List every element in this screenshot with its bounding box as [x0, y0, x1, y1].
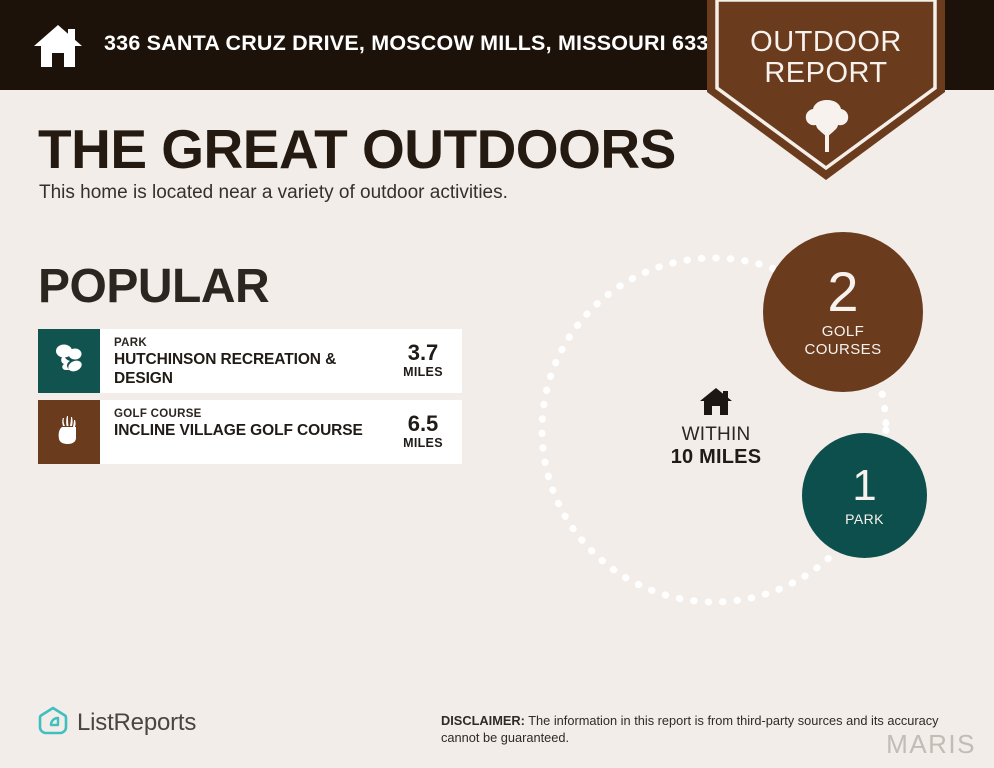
outdoor-report-page: 336 SANTA CRUZ DRIVE, MOSCOW MILLS, MISS… — [0, 0, 994, 768]
tree-icon — [804, 98, 850, 154]
stat-circle-park: 1 PARK — [802, 433, 927, 558]
poi-text-block: GOLF COURSE INCLINE VILLAGE GOLF COURSE — [100, 400, 384, 464]
poi-distance-block: 3.7 MILES — [384, 329, 462, 393]
park-trees-icon — [51, 341, 87, 382]
badge-title-line1: OUTDOOR — [705, 26, 947, 59]
stat-circle-golf-courses: 2 GOLF COURSES — [763, 232, 923, 392]
poi-name: INCLINE VILLAGE GOLF COURSE — [114, 421, 378, 440]
radius-center-label: WITHIN 10 MILES — [641, 386, 791, 469]
radius-within-text: WITHIN — [641, 423, 791, 446]
popular-section-heading: POPULAR — [38, 259, 269, 314]
poi-distance-block: 6.5 MILES — [384, 400, 462, 464]
poi-distance-unit: MILES — [384, 436, 462, 450]
poi-text-block: PARK HUTCHINSON RECREATION & DESIGN — [100, 329, 384, 393]
golf-bag-icon — [51, 412, 87, 453]
list-item[interactable]: PARK HUTCHINSON RECREATION & DESIGN 3.7 … — [38, 329, 462, 393]
golf-icon-container — [38, 400, 100, 464]
stat-label-line2: COURSES — [805, 341, 882, 359]
badge-title-line2: REPORT — [705, 57, 947, 90]
page-title: THE GREAT OUTDOORS — [38, 117, 676, 181]
house-icon — [699, 386, 733, 418]
outdoor-report-badge: OUTDOOR REPORT — [705, 0, 947, 182]
park-icon-container — [38, 329, 100, 393]
stat-count: 1 — [852, 464, 876, 508]
radius-miles-text: 10 MILES — [641, 446, 791, 469]
poi-distance-value: 3.7 — [384, 341, 462, 365]
stat-label-line1: PARK — [845, 511, 884, 527]
page-subtitle: This home is located near a variety of o… — [39, 182, 508, 204]
disclaimer-label: DISCLAIMER: — [441, 713, 525, 728]
stat-label-line1: GOLF — [822, 323, 864, 341]
poi-category: PARK — [114, 336, 378, 350]
popular-list: PARK HUTCHINSON RECREATION & DESIGN 3.7 … — [38, 329, 462, 471]
poi-category: GOLF COURSE — [114, 407, 378, 421]
disclaimer: DISCLAIMER: The information in this repo… — [441, 712, 961, 746]
poi-distance-unit: MILES — [384, 365, 462, 379]
maris-watermark: MARIS — [886, 729, 976, 760]
house-icon — [32, 20, 84, 72]
poi-name: HUTCHINSON RECREATION & DESIGN — [114, 350, 378, 388]
list-item[interactable]: GOLF COURSE INCLINE VILLAGE GOLF COURSE … — [38, 400, 462, 464]
stat-count: 2 — [827, 265, 858, 319]
listreports-house-leaf-icon — [38, 705, 68, 740]
poi-distance-value: 6.5 — [384, 412, 462, 436]
listreports-logo-text: ListReports — [77, 709, 196, 737]
listreports-logo[interactable]: ListReports — [38, 705, 196, 740]
property-address: 336 SANTA CRUZ DRIVE, MOSCOW MILLS, MISS… — [104, 31, 733, 56]
